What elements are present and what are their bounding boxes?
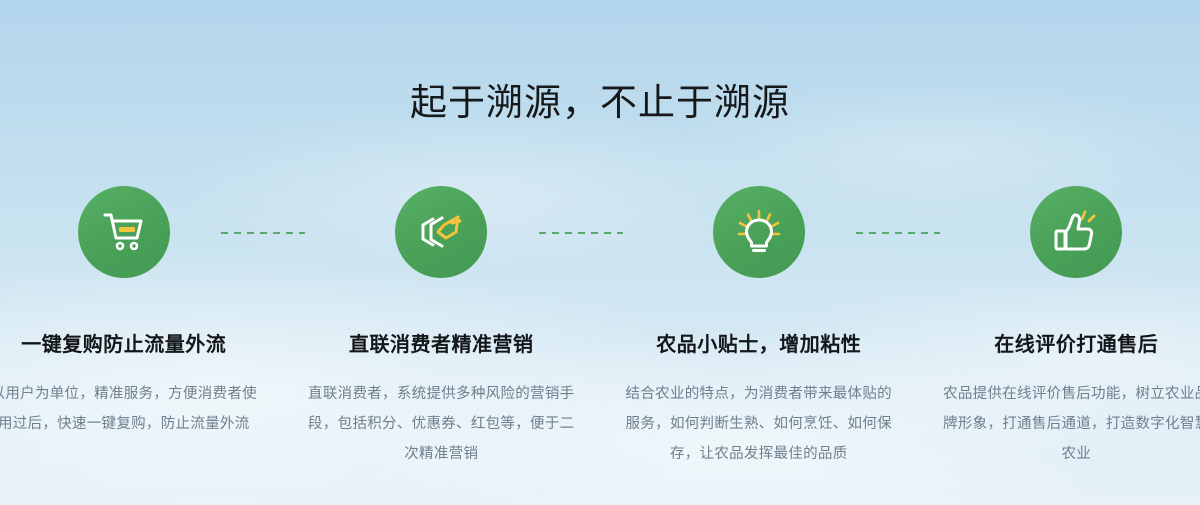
feature-heading-3: 农品小贴士，增加粘性 <box>600 328 918 357</box>
feature-section: 起于溯源，不止于溯源 一键复购防止流量外流 以用户为单位，精准服务，方便消费者使… <box>0 0 1200 505</box>
feature-column-4: 在线评价打通售后 农品提供在线评价售后功能，树立农业品牌形象，打通售后通道，打造… <box>918 186 1200 469</box>
feature-icon-circle-4 <box>1030 186 1122 278</box>
feature-column-3: 农品小贴士，增加粘性 结合农业的特点，为消费者带来最体贴的服务，如何判断生熟、如… <box>600 186 918 469</box>
feature-body-4: 农品提供在线评价售后功能，树立农业品牌形象，打通售后通道，打造数字化智慧农业 <box>918 379 1200 469</box>
feature-body-1: 以用户为单位，精准服务，方便消费者使用过后，快速一键复购，防止流量外流 <box>0 379 283 439</box>
shopping-cart-icon <box>99 207 149 257</box>
feature-heading-1: 一键复购防止流量外流 <box>0 328 283 357</box>
feature-heading-4: 在线评价打通售后 <box>918 328 1200 357</box>
feature-body-2: 直联消费者，系统提供多种风险的营销手段，包括积分、优惠券、红包等，便于二次精准营… <box>283 379 601 469</box>
megaphone-marketing-icon <box>416 207 466 257</box>
lightbulb-idea-icon <box>734 207 784 257</box>
feature-icon-circle-3 <box>713 186 805 278</box>
feature-column-2: 直联消费者精准营销 直联消费者，系统提供多种风险的营销手段，包括积分、优惠券、红… <box>283 186 601 469</box>
feature-icon-circle-1 <box>78 186 170 278</box>
thumbs-up-icon <box>1051 207 1101 257</box>
feature-columns: 一键复购防止流量外流 以用户为单位，精准服务，方便消费者使用过后，快速一键复购，… <box>0 186 1200 469</box>
section-title: 起于溯源，不止于溯源 <box>0 80 1200 126</box>
feature-column-1: 一键复购防止流量外流 以用户为单位，精准服务，方便消费者使用过后，快速一键复购，… <box>0 186 283 469</box>
feature-icon-circle-2 <box>395 186 487 278</box>
feature-heading-2: 直联消费者精准营销 <box>283 328 601 357</box>
feature-body-3: 结合农业的特点，为消费者带来最体贴的服务，如何判断生熟、如何烹饪、如何保存，让农… <box>600 379 918 469</box>
